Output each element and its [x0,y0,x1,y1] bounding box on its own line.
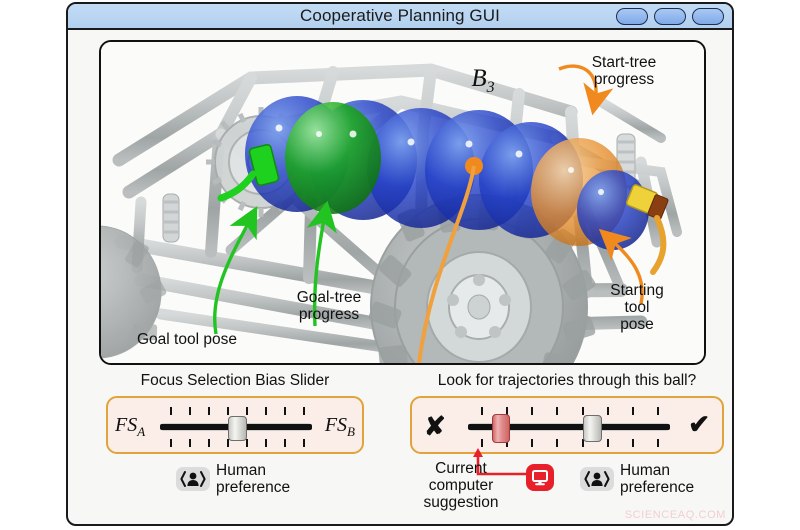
focus-selection-control: Focus Selection Bias Slider FSA FSB [68,372,402,526]
starting-tool-pose-label: Starting tool pose [587,282,687,333]
trajectory-query-control: Look for trajectories through this ball?… [398,372,734,526]
slider-tick [208,407,210,415]
slider-tick [531,407,533,415]
focus-selection-slider-panel[interactable]: FSA FSB [106,396,364,454]
slider-tick [208,439,210,447]
person-arrows-icon [583,470,611,488]
3d-planning-viewport[interactable]: B3 Start-tree progress Starting tool pos… [99,40,706,365]
trajectory-query-slider-panel[interactable]: ✘ ✔ [410,396,724,454]
human-preference-label-right: Human preference [620,462,694,496]
slider-tick [246,407,248,415]
human-preference-icon [176,467,210,491]
slider-tick [556,407,558,415]
slider-tick [607,407,609,415]
slider-tick [170,407,172,415]
person-arrows-icon [179,470,207,488]
slider-tick [607,439,609,447]
slider-tick [632,439,634,447]
fs-a-label: FSA [115,414,145,440]
slider-ticks-top [160,407,312,415]
slider-tick [531,439,533,447]
reject-glyph[interactable]: ✘ [424,413,446,439]
application-window: Cooperative Planning GUI [66,2,734,526]
slider-tick [265,439,267,447]
slider-tick [284,407,286,415]
slider-tick [170,439,172,447]
close-button[interactable] [692,8,724,25]
slider-tick [284,439,286,447]
slider-tick [582,407,584,415]
focus-selection-slider[interactable] [160,398,312,452]
accept-glyph[interactable]: ✔ [688,411,710,437]
focus-selection-handle[interactable] [228,416,247,441]
minimize-button[interactable] [616,8,648,25]
computer-suggestion-label: Current computer suggestion [402,460,520,511]
window-buttons [616,8,724,25]
start-tree-progress-label: Start-tree progress [559,54,689,88]
slider-tick [265,407,267,415]
slider-tick [303,439,305,447]
slider-tick [632,407,634,415]
human-preference-icon [580,467,614,491]
slider-tick [189,439,191,447]
slider-tick [227,439,229,447]
title-bar: Cooperative Planning GUI [68,4,732,30]
human-preference-right: Human preference [580,462,694,496]
computer-suggestion-handle[interactable] [492,414,510,443]
focus-selection-title: Focus Selection Bias Slider [68,372,402,390]
slider-tick [303,407,305,415]
monitor-icon [531,469,549,487]
slider-tick [481,439,483,447]
slider-tick [556,439,558,447]
slider-tick [246,439,248,447]
human-preference-label-left: Human preference [216,462,290,496]
slider-tick [481,407,483,415]
slider-tick [657,407,659,415]
computer-icon [526,464,554,491]
human-preference-left: Human preference [176,462,290,496]
slider-tick [657,439,659,447]
slider-tick [227,407,229,415]
fs-b-label: FSB [325,414,355,440]
goal-tool-pose-label: Goal tool pose [137,331,307,348]
maximize-button[interactable] [654,8,686,25]
trajectory-query-slider[interactable] [468,398,670,452]
slider-tick [189,407,191,415]
human-preference-handle[interactable] [583,415,602,442]
trajectory-query-title: Look for trajectories through this ball? [398,372,734,390]
goal-tree-progress-label: Goal-tree progress [269,289,389,323]
ball-label: B3 [453,70,513,96]
watermark: SCIENCEAQ.COM [625,509,726,521]
